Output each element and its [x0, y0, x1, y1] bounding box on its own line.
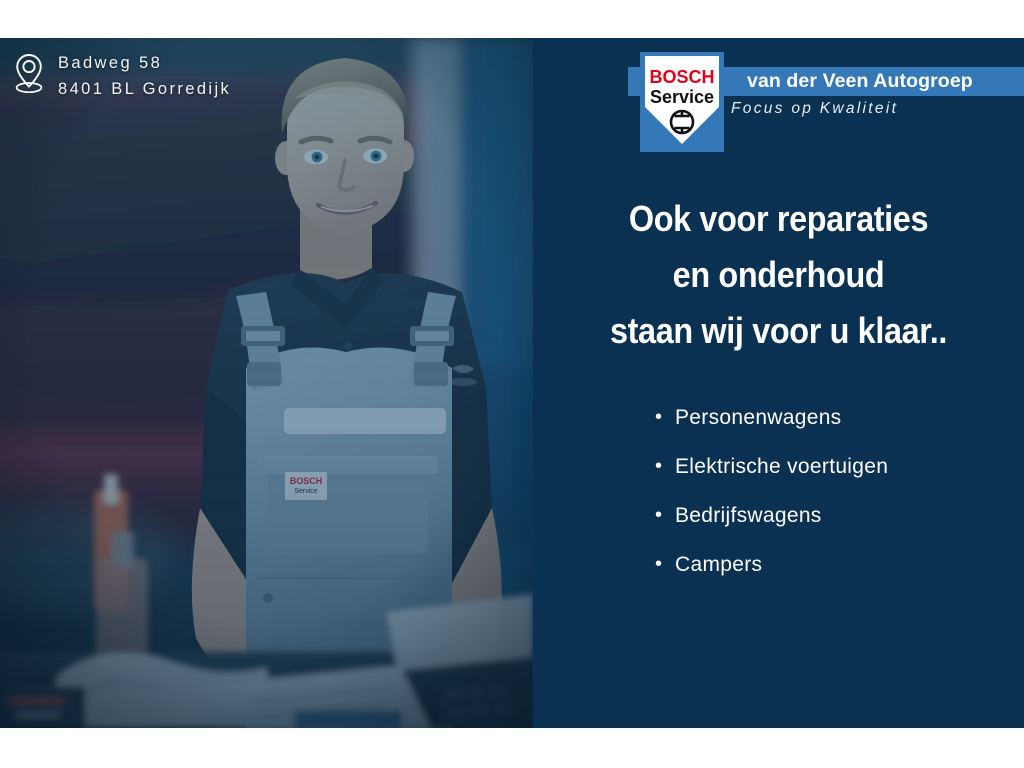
headline-line-2: en onderhoud — [558, 247, 1000, 303]
location-pin-icon — [14, 52, 44, 94]
headline-line-3: staan wij voor u klaar.. — [558, 303, 1000, 359]
promo-banner: BOSCH Service — [0, 38, 1024, 728]
content-panel: BOSCH Service van der Veen Autogroep Foc… — [533, 38, 1024, 728]
list-item: Personenwagens — [655, 393, 888, 442]
bosch-service-logo: BOSCH Service — [640, 52, 724, 152]
address-overlay: Badweg 58 8401 BL Gorredijk — [14, 50, 231, 102]
workshop-photo: BOSCH Service — [0, 38, 533, 728]
headline: Ook voor reparaties en onderhoud staan w… — [558, 191, 1000, 359]
list-item: Elektrische voertuigen — [655, 442, 888, 491]
address-line-1: Badweg 58 — [58, 50, 231, 76]
bosch-wordmark: BOSCH — [649, 67, 714, 87]
mechanic-photo-illustration: BOSCH Service — [0, 38, 533, 728]
services-list: Personenwagens Elektrische voertuigen Be… — [655, 393, 888, 589]
headline-line-1: Ook voor reparaties — [558, 191, 1000, 247]
address-line-2: 8401 BL Gorredijk — [58, 76, 231, 102]
list-item: Bedrijfswagens — [655, 491, 888, 540]
service-wordmark: Service — [650, 87, 714, 107]
list-item: Campers — [655, 540, 888, 589]
company-tagline: Focus op Kwaliteit — [731, 100, 898, 118]
company-name: van der Veen Autogroep — [747, 66, 1024, 97]
bosch-service-logo-mark: BOSCH Service — [640, 52, 724, 152]
